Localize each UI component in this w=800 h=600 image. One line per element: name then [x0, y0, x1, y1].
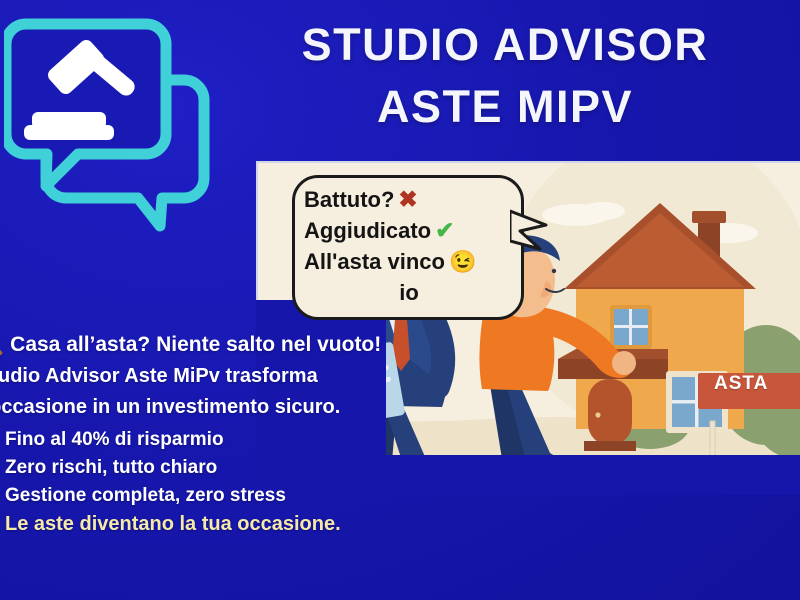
winking-face-emoji: 😉: [449, 246, 476, 277]
list-item: 💸 Fino al 40% di risparmio: [0, 426, 408, 454]
list-item-label: Gestione completa, zero stress: [5, 482, 286, 510]
list-item-label: Le aste diventano la tua occasione.: [5, 510, 341, 538]
list-item: 👉 Le aste diventano la tua occasione.: [0, 510, 408, 538]
bubble-line-3: All'asta vinco 😉: [304, 246, 514, 277]
title-line-2: ASTE MIPV: [225, 76, 785, 138]
gavel-chat-bubbles-icon: [4, 12, 214, 257]
benefit-list: 💸 Fino al 40% di risparmio ⚖️ Zero risch…: [0, 426, 408, 538]
copy-headline: 🔨 Casa all’asta? Niente salto nel vuoto!: [0, 330, 408, 359]
bubble-line-3-text: All'asta vinco: [304, 246, 445, 277]
list-item: ⚖️ Zero rischi, tutto chiaro: [0, 454, 408, 482]
asta-sign-label: ASTA: [714, 373, 768, 395]
bubble-line-4-text: io: [399, 277, 419, 308]
speech-bubble-text: Battuto? ✖ Aggiudicato ✔ All'asta vinco …: [292, 175, 524, 320]
speech-bubble: Battuto? ✖ Aggiudicato ✔ All'asta vinco …: [292, 175, 524, 320]
marketing-copy: 🔨 Casa all’asta? Niente salto nel vuoto!…: [0, 330, 408, 538]
bubble-line-2: Aggiudicato ✔: [304, 215, 514, 246]
list-item-label: Fino al 40% di risparmio: [5, 426, 224, 454]
poster-canvas: STUDIO ADVISOR ASTE MIPV: [0, 0, 800, 600]
cross-mark-icon: ✖: [398, 188, 417, 211]
copy-headline-text: Casa all’asta? Niente salto nel vuoto!: [10, 330, 381, 359]
bubble-line-1-text: Battuto?: [304, 184, 394, 215]
bubble-line-1: Battuto? ✖: [304, 184, 514, 215]
list-item-label: Zero rischi, tutto chiaro: [5, 454, 217, 482]
page-title: STUDIO ADVISOR ASTE MIPV: [225, 14, 785, 138]
check-mark-icon: ✔: [435, 219, 454, 242]
hammer-emoji: 🔨: [0, 330, 4, 359]
bubble-line-4: io: [304, 277, 514, 308]
copy-paragraph-line-1: Studio Advisor Aste MiPv trasforma: [0, 362, 408, 390]
list-item: 👉 Gestione completa, zero stress: [0, 482, 408, 510]
copy-paragraph-line-2: l’occasione in un investimento sicuro.: [0, 393, 408, 421]
bubble-line-2-text: Aggiudicato: [304, 215, 431, 246]
title-line-1: STUDIO ADVISOR: [225, 14, 785, 76]
